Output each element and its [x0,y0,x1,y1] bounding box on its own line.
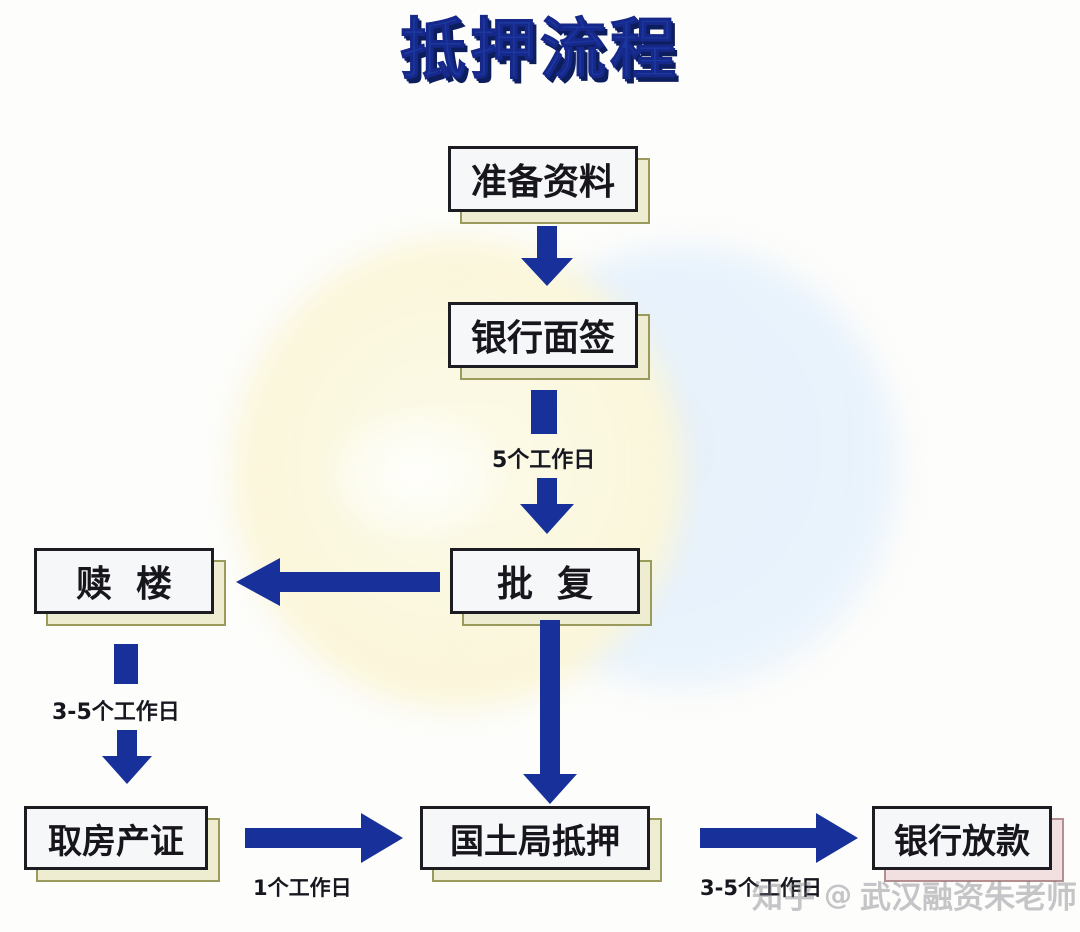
duration-bureau-to-payout: 3-5个工作日 [700,872,822,902]
watermark-at-sign: @ [824,878,852,911]
node-land-bureau[interactable]: 国土局抵押 [420,806,650,870]
page-title: 抵押流程 [0,14,1080,87]
node-label: 取房产证 [24,806,208,870]
node-prepare-materials[interactable]: 准备资料 [448,146,638,212]
background-highlight [330,410,500,540]
node-approval[interactable]: 批复 [450,548,640,614]
arrow-certificate-to-land-bureau [245,813,405,863]
node-redeem-building[interactable]: 赎楼 [34,548,214,614]
flowchart-canvas: 抵押流程 准备资料 银行面签 5个工作日 批复 [0,0,1080,932]
duration-redeem-wait: 3-5个工作日 [52,694,180,726]
node-bank-interview[interactable]: 银行面签 [448,302,638,368]
node-label: 准备资料 [448,146,638,212]
arrow-stem-interview-to-approval [531,390,557,434]
node-label: 批复 [450,548,640,614]
arrow-land-bureau-to-payout [700,813,860,863]
duration-certificate-to-bureau: 1个工作日 [253,872,352,902]
node-label: 银行放款 [872,806,1052,870]
arrowhead-interview-to-approval [518,478,576,536]
node-label: 银行面签 [448,302,638,368]
arrow-stem-redeem-to-certificate [114,644,138,684]
node-label: 国土局抵押 [420,806,650,870]
arrow-approval-to-redeem [236,558,442,606]
duration-approval-wait: 5个工作日 [492,442,595,474]
node-label: 赎楼 [34,548,214,614]
arrowhead-redeem-to-certificate [100,730,154,786]
arrow-approval-to-land-bureau [521,620,579,806]
arrow-prepare-to-interview [519,226,575,288]
node-bank-payout[interactable]: 银行放款 [872,806,1052,870]
node-get-certificate[interactable]: 取房产证 [24,806,208,870]
